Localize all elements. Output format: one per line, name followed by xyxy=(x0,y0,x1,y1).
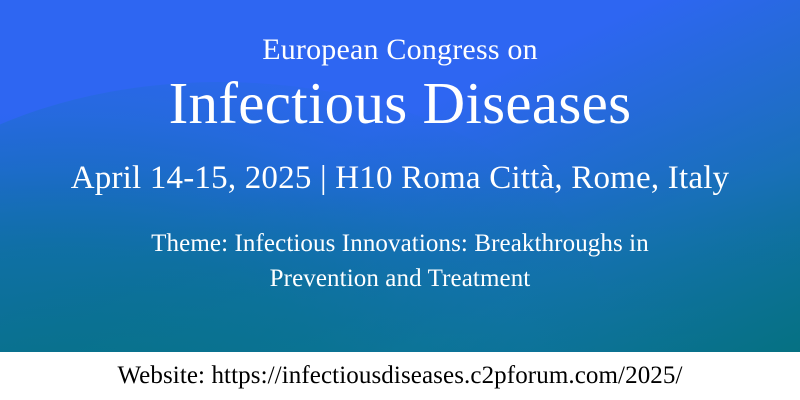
event-date-venue: April 14-15, 2025 | H10 Roma Città, Rome… xyxy=(71,160,730,196)
event-headline-title: Infectious Diseases xyxy=(169,72,632,136)
event-eyebrow-title: European Congress on xyxy=(262,34,538,66)
event-website-link[interactable]: Website: https://infectiousdiseases.c2pf… xyxy=(117,362,682,390)
banner-footer: Website: https://infectiousdiseases.c2pf… xyxy=(0,352,800,400)
conference-banner: European Congress on Infectious Diseases… xyxy=(0,0,800,400)
event-theme: Theme: Infectious Innovations: Breakthro… xyxy=(80,226,720,297)
banner-gradient-body: European Congress on Infectious Diseases… xyxy=(0,0,800,352)
